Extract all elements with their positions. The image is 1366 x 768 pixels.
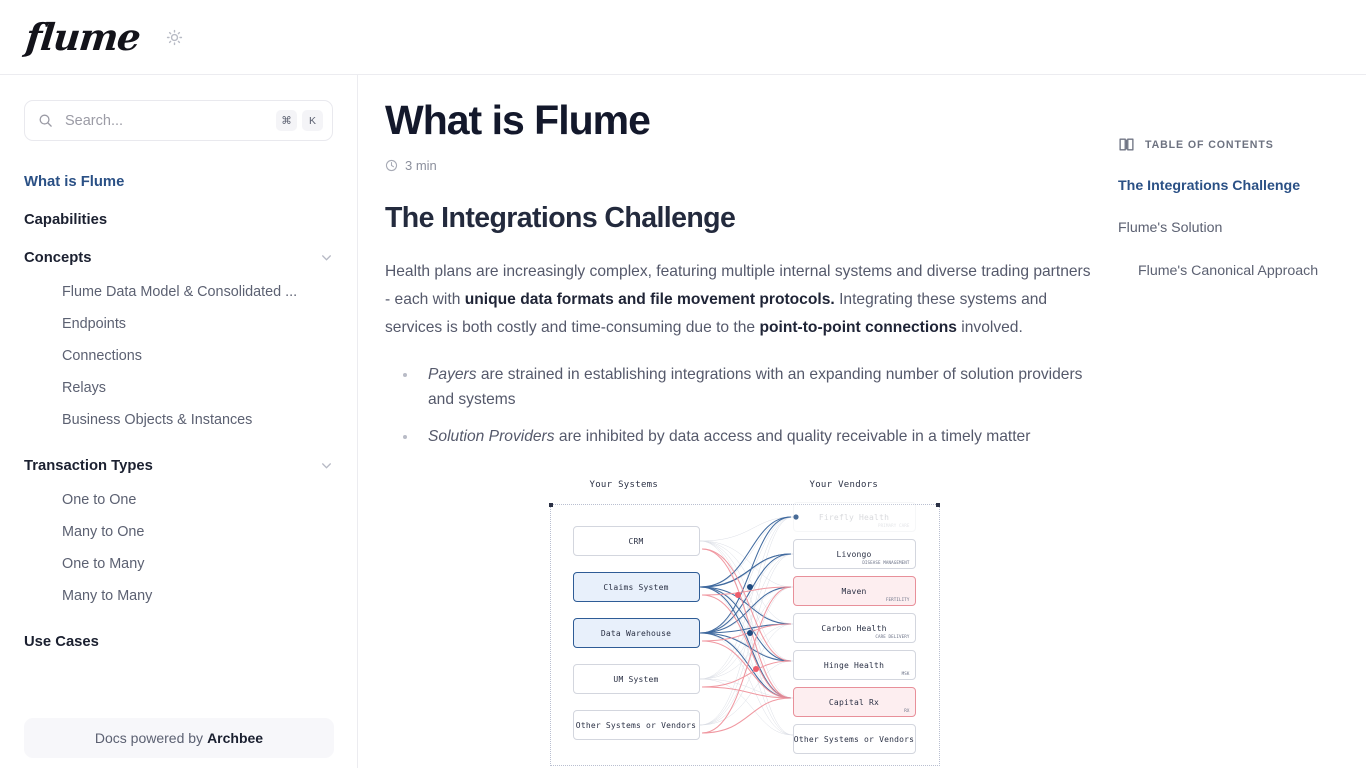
vendor-tag: MSK bbox=[902, 671, 910, 676]
footer-brand: Archbee bbox=[207, 730, 263, 746]
sidebar-item-endpoints[interactable]: Endpoints bbox=[0, 308, 357, 340]
vendor-box-hinge-health[interactable]: Hinge Health MSK bbox=[793, 650, 916, 680]
toc-item-flumes-canonical-approach[interactable]: Flume's Canonical Approach bbox=[1118, 262, 1348, 280]
vendor-tag: CARE DELIVERY bbox=[875, 634, 909, 639]
paragraph-part-3: involved. bbox=[957, 319, 1023, 336]
system-label: Other Systems or Vendors bbox=[576, 721, 696, 730]
sidebar-group-transaction-types[interactable]: Transaction Types bbox=[0, 448, 357, 484]
sidebar-item-one-to-one[interactable]: One to One bbox=[0, 484, 357, 516]
vendor-box-livongo[interactable]: Livongo DISEASE MANAGEMENT bbox=[793, 539, 916, 569]
intro-paragraph: Health plans are increasingly complex, f… bbox=[385, 258, 1100, 342]
integration-diagram-figure: Your Systems Your Vendors bbox=[385, 469, 1100, 768]
clock-icon bbox=[385, 159, 398, 172]
sidebar-item-one-to-many[interactable]: One to Many bbox=[0, 548, 357, 580]
system-label: Data Warehouse bbox=[601, 629, 671, 638]
sidebar-item-what-is-flume[interactable]: What is Flume bbox=[0, 163, 357, 201]
section-title: The Integrations Challenge bbox=[385, 200, 1100, 237]
chevron-down-icon bbox=[320, 459, 333, 472]
sidebar-item-business-objects[interactable]: Business Objects & Instances bbox=[0, 404, 357, 436]
sidebar-group-use-cases[interactable]: Use Cases bbox=[0, 624, 357, 660]
system-label: UM System bbox=[613, 675, 658, 684]
toc-item-integrations-challenge[interactable]: The Integrations Challenge bbox=[1118, 177, 1348, 195]
sidebar-item-capabilities[interactable]: Capabilities bbox=[0, 201, 357, 239]
system-label: Claims System bbox=[603, 583, 668, 592]
sidebar-group-label-transaction-types: Transaction Types bbox=[24, 458, 153, 474]
sidebar-item-many-to-one[interactable]: Many to One bbox=[0, 516, 357, 548]
paragraph-bold-2: point-to-point connections bbox=[759, 319, 956, 336]
toc-heading: TABLE OF CONTENTS bbox=[1118, 136, 1348, 153]
vendor-box-other-vendors[interactable]: Other Systems or Vendors bbox=[793, 724, 916, 754]
search-shortcut-key: K bbox=[302, 110, 323, 131]
sidebar-group-label-concepts: Concepts bbox=[24, 250, 91, 266]
vendor-tag: FERTILITY bbox=[886, 597, 910, 602]
paragraph-bold-1: unique data formats and file movement pr… bbox=[465, 291, 835, 308]
system-label: CRM bbox=[628, 537, 643, 546]
bullet-emphasis: Solution Providers bbox=[428, 428, 555, 445]
sidebar-item-flume-data-model[interactable]: Flume Data Model & Consolidated ... bbox=[0, 276, 357, 308]
sidebar-nav: What is Flume Capabilities Concepts Flum… bbox=[0, 141, 357, 660]
sidebar-group-label-use-cases: Use Cases bbox=[24, 634, 99, 650]
point-to-point-diagram: Your Systems Your Vendors bbox=[528, 469, 958, 768]
sidebar-item-relays[interactable]: Relays bbox=[0, 372, 357, 404]
search-placeholder: Search... bbox=[65, 113, 271, 129]
bullet-text: are strained in establishing integration… bbox=[428, 366, 1082, 408]
list-item: Solution Providers are inhibited by data… bbox=[385, 424, 1100, 449]
system-box-other-systems[interactable]: Other Systems or Vendors bbox=[573, 710, 700, 740]
book-icon bbox=[1118, 136, 1135, 153]
vendor-box-capital-rx[interactable]: Capital Rx RX bbox=[793, 687, 916, 717]
vendor-label: Capital Rx bbox=[829, 698, 879, 707]
vendor-box-carbon-health[interactable]: Carbon Health CARE DELIVERY bbox=[793, 613, 916, 643]
search-icon bbox=[38, 113, 53, 128]
article: What is Flume 3 min The Integrations Cha… bbox=[385, 75, 1100, 768]
vendor-label: Livongo bbox=[836, 550, 871, 559]
sun-icon[interactable] bbox=[162, 24, 188, 50]
system-box-data-warehouse[interactable]: Data Warehouse bbox=[573, 618, 700, 648]
vendor-label: Carbon Health bbox=[821, 624, 886, 633]
vendor-label: Firefly Health bbox=[819, 513, 889, 522]
main-content: What is Flume 3 min The Integrations Cha… bbox=[358, 75, 1366, 768]
top-bar: flume bbox=[0, 0, 1366, 75]
sidebar-item-many-to-many[interactable]: Many to Many bbox=[0, 580, 357, 612]
list-item: Payers are strained in establishing inte… bbox=[385, 362, 1100, 412]
bullet-emphasis: Payers bbox=[428, 366, 477, 383]
vendor-box-maven[interactable]: Maven FERTILITY bbox=[793, 576, 916, 606]
docs-powered-by-footer[interactable]: Docs powered by Archbee bbox=[24, 718, 334, 758]
sidebar-group-concepts[interactable]: Concepts bbox=[0, 240, 357, 276]
vendor-label: Maven bbox=[841, 587, 866, 596]
vendor-label: Hinge Health bbox=[824, 661, 884, 670]
toc-item-flumes-solution[interactable]: Flume's Solution bbox=[1118, 219, 1348, 237]
table-of-contents: TABLE OF CONTENTS The Integrations Chall… bbox=[1118, 136, 1348, 280]
read-time-label: 3 min bbox=[405, 158, 437, 173]
read-time: 3 min bbox=[385, 158, 1100, 173]
vendor-tag: DISEASE MANAGEMENT bbox=[862, 560, 909, 565]
sidebar-item-connections[interactable]: Connections bbox=[0, 340, 357, 372]
bullet-text: are inhibited by data access and quality… bbox=[555, 428, 1031, 445]
system-box-crm[interactable]: CRM bbox=[573, 526, 700, 556]
footer-prefix: Docs powered by bbox=[95, 730, 203, 746]
system-box-um-system[interactable]: UM System bbox=[573, 664, 700, 694]
search-input[interactable]: Search... ⌘ K bbox=[24, 100, 333, 141]
vendor-label: Other Systems or Vendors bbox=[794, 735, 914, 744]
vendor-tag: PRIMARY CARE bbox=[878, 523, 909, 528]
toc-heading-label: TABLE OF CONTENTS bbox=[1145, 139, 1274, 151]
system-box-claims-system[interactable]: Claims System bbox=[573, 572, 700, 602]
search-shortcut-modifier: ⌘ bbox=[276, 110, 297, 131]
vendor-box-firefly-health[interactable]: Firefly Health PRIMARY CARE bbox=[793, 502, 916, 532]
challenge-bullet-list: Payers are strained in establishing inte… bbox=[385, 362, 1100, 449]
page-title: What is Flume bbox=[385, 95, 1100, 145]
flume-logo[interactable]: flume bbox=[24, 19, 141, 56]
vendor-tag: RX bbox=[904, 708, 909, 713]
sidebar: Search... ⌘ K What is Flume Capabilities… bbox=[0, 75, 358, 768]
chevron-down-icon bbox=[320, 251, 333, 264]
